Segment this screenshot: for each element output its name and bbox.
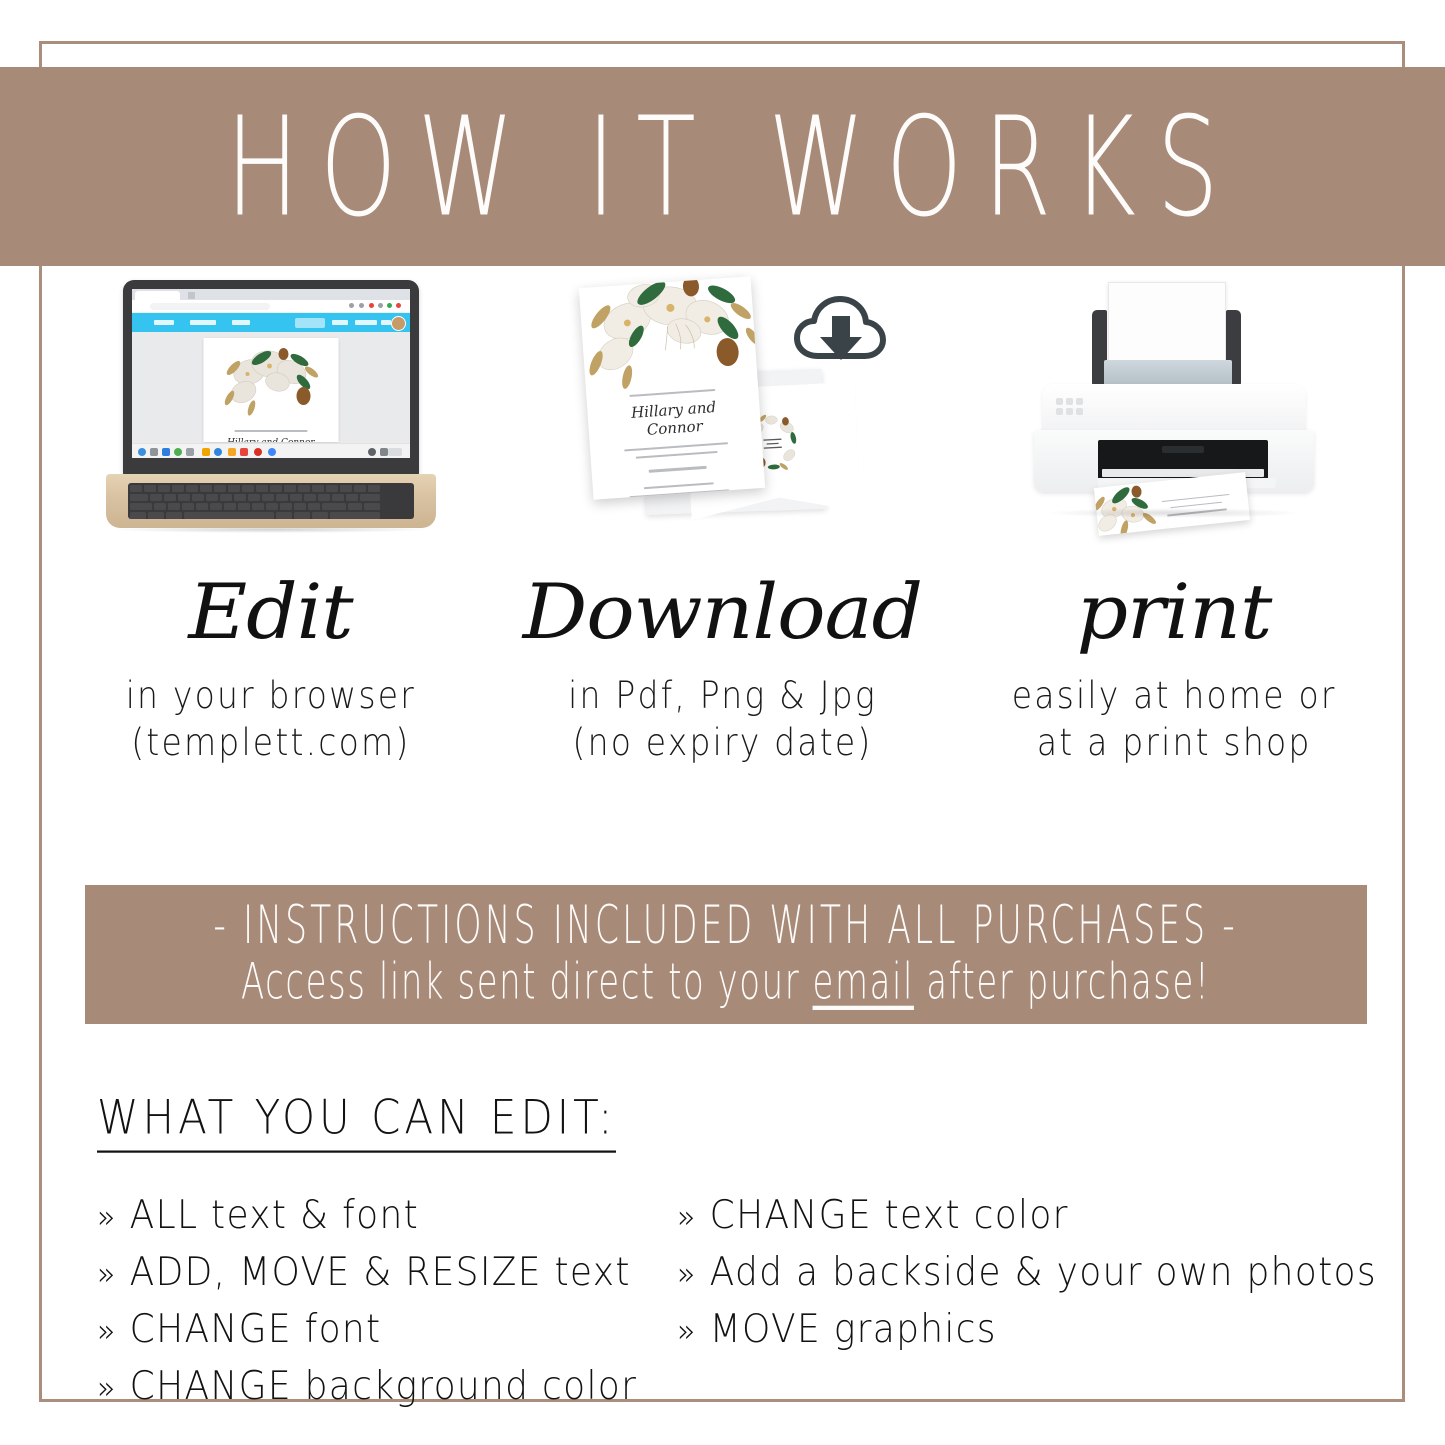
step-download: Hillary and Connor D bbox=[497, 272, 949, 812]
email-link[interactable]: email bbox=[813, 955, 914, 1012]
step-script-label-print: print bbox=[1077, 547, 1272, 677]
browser-tabstrip bbox=[132, 289, 410, 300]
laptop-lid: Hillary and Connor bbox=[123, 280, 419, 476]
header-band: HOW IT WORKS bbox=[0, 67, 1445, 266]
banner-subline-before: Access link sent direct to your bbox=[241, 955, 813, 1012]
toolbar-dot-6 bbox=[396, 303, 401, 308]
taskbar-icon-9 bbox=[240, 448, 248, 456]
toolbar-dot-2 bbox=[359, 303, 364, 308]
laptop-screen: Hillary and Connor bbox=[132, 289, 410, 458]
bullet-marker-icon: » bbox=[677, 1202, 697, 1235]
browser-tab bbox=[135, 291, 180, 300]
step-script-label-download: Download bbox=[523, 547, 922, 677]
printer-control-panel bbox=[1056, 398, 1086, 420]
app-menu-gallery bbox=[190, 320, 216, 325]
list-item-label: ALL text & font bbox=[130, 1196, 419, 1236]
printer-device bbox=[1004, 272, 1344, 547]
bullet-marker-icon: » bbox=[677, 1316, 697, 1349]
tray-clock bbox=[388, 448, 402, 456]
edit-bullets-left: » ALL text & font » ADD, MOVE & RESIZE t… bbox=[97, 1198, 677, 1426]
taskbar-icon-3 bbox=[162, 448, 170, 456]
editor-canvas: Hillary and Connor bbox=[132, 332, 410, 444]
app-menu-help bbox=[381, 320, 391, 325]
page-title: HOW IT WORKS bbox=[205, 98, 1239, 235]
step-script-label-edit: Edit bbox=[189, 547, 353, 677]
list-item: » ADD, MOVE & RESIZE text bbox=[97, 1253, 677, 1293]
tray-icon-2 bbox=[380, 448, 388, 456]
laptop-keyboard bbox=[128, 483, 414, 519]
step-caption-edit: in your browser (templett.com) bbox=[126, 672, 416, 765]
section-heading: WHAT YOU CAN EDIT: bbox=[97, 1090, 616, 1153]
toolbar-dot-1 bbox=[349, 303, 354, 308]
laptop-illustration: Hillary and Connor bbox=[45, 272, 497, 547]
edit-bullet-columns: » ALL text & font » ADD, MOVE & RESIZE t… bbox=[97, 1198, 1397, 1426]
taskbar-icon-6 bbox=[202, 448, 210, 456]
caption-line-2: (no expiry date) bbox=[568, 719, 877, 766]
taskbar-icon-7 bbox=[214, 448, 222, 456]
step-edit: Hillary and Connor bbox=[45, 272, 497, 812]
printer-shadow bbox=[1044, 508, 1304, 518]
bullet-marker-icon: » bbox=[97, 1202, 117, 1235]
banner-subline: Access link sent direct to your email af… bbox=[241, 955, 1210, 1012]
browser-address-bar bbox=[132, 300, 410, 313]
caption-line-2: at a print shop bbox=[1012, 719, 1337, 766]
caption-line-1: in Pdf, Png & Jpg bbox=[568, 672, 877, 719]
bullet-marker-icon: » bbox=[97, 1373, 117, 1406]
preview-names: Hillary and Connor bbox=[215, 438, 326, 443]
app-menu-undo bbox=[232, 320, 250, 325]
taskbar-icon-4 bbox=[174, 448, 182, 456]
caption-line-2: (templett.com) bbox=[126, 719, 416, 766]
what-you-can-edit-section: WHAT YOU CAN EDIT: » ALL text & font » A… bbox=[97, 1090, 1397, 1426]
instructions-banner: - INSTRUCTIONS INCLUDED WITH ALL PURCHAS… bbox=[85, 885, 1367, 1024]
list-item-label: Add a backside & your own photos bbox=[710, 1253, 1377, 1293]
caption-line-1: in your browser bbox=[126, 672, 416, 719]
list-item-label: CHANGE font bbox=[130, 1310, 382, 1350]
app-menu-tools bbox=[355, 320, 377, 325]
laptop-device: Hillary and Connor bbox=[106, 280, 436, 535]
invitation-text-block: Hillary and Connor bbox=[602, 387, 751, 500]
edit-bullets-right: » CHANGE text color » Add a backside & y… bbox=[677, 1198, 1397, 1426]
invitation-preview: Hillary and Connor bbox=[203, 338, 338, 442]
tray-icon-1 bbox=[368, 448, 376, 456]
app-download-button bbox=[295, 318, 325, 328]
taskbar-icon-5 bbox=[186, 448, 194, 456]
step-print: print easily at home or at a print shop bbox=[948, 272, 1400, 812]
steps-row: Hillary and Connor bbox=[45, 272, 1400, 812]
list-item-label: CHANGE text color bbox=[710, 1196, 1069, 1236]
printer-slot-handle bbox=[1162, 446, 1204, 453]
bullet-marker-icon: » bbox=[97, 1259, 117, 1292]
new-tab-icon bbox=[188, 292, 195, 299]
toolbar-dot-4 bbox=[378, 303, 383, 308]
toolbar-dot-5 bbox=[387, 303, 392, 308]
caption-line-1: easily at home or bbox=[1012, 672, 1337, 719]
invitation-floral-art bbox=[203, 338, 338, 442]
list-item: » Add a backside & your own photos bbox=[677, 1253, 1397, 1293]
taskbar-icon-2 bbox=[150, 448, 158, 456]
os-taskbar bbox=[132, 443, 410, 458]
invitation-floral-art bbox=[578, 276, 764, 392]
step-caption-download: in Pdf, Png & Jpg (no expiry date) bbox=[568, 672, 877, 765]
invitation-group: Hillary and Connor bbox=[558, 276, 888, 544]
list-item: » CHANGE background color bbox=[97, 1367, 677, 1407]
templett-app-bar bbox=[132, 313, 410, 333]
invitation-card: Hillary and Connor bbox=[578, 276, 764, 499]
bullet-marker-icon: » bbox=[677, 1259, 697, 1292]
list-item-label: CHANGE background color bbox=[130, 1367, 638, 1407]
banner-headline: - INSTRUCTIONS INCLUDED WITH ALL PURCHAS… bbox=[214, 897, 1238, 956]
list-item-label: MOVE graphics bbox=[710, 1310, 997, 1350]
list-item: » MOVE graphics bbox=[677, 1310, 1397, 1350]
invitation-names: Hillary and Connor bbox=[603, 396, 745, 442]
list-item: » CHANGE font bbox=[97, 1310, 677, 1350]
taskbar-icon-10 bbox=[254, 448, 262, 456]
taskbar-icon-1 bbox=[138, 448, 146, 456]
url-pill bbox=[150, 303, 270, 310]
bullet-marker-icon: » bbox=[97, 1316, 117, 1349]
app-menu-file bbox=[154, 320, 174, 325]
banner-subline-after: after purchase! bbox=[914, 955, 1210, 1012]
taskbar-icon-8 bbox=[228, 448, 236, 456]
avatar bbox=[391, 316, 406, 331]
step-caption-print: easily at home or at a print shop bbox=[1012, 672, 1337, 765]
list-item: » ALL text & font bbox=[97, 1196, 677, 1236]
download-cloud-icon bbox=[794, 294, 886, 372]
taskbar-icon-11 bbox=[268, 448, 276, 456]
toolbar-dot-3 bbox=[369, 303, 374, 308]
invitation-envelope-illustration: Hillary and Connor bbox=[497, 272, 949, 547]
laptop-base bbox=[106, 474, 436, 528]
list-item-label: ADD, MOVE & RESIZE text bbox=[130, 1253, 631, 1293]
list-item: » CHANGE text color bbox=[677, 1196, 1397, 1236]
printer-illustration bbox=[948, 272, 1400, 547]
app-menu-save bbox=[332, 320, 348, 325]
